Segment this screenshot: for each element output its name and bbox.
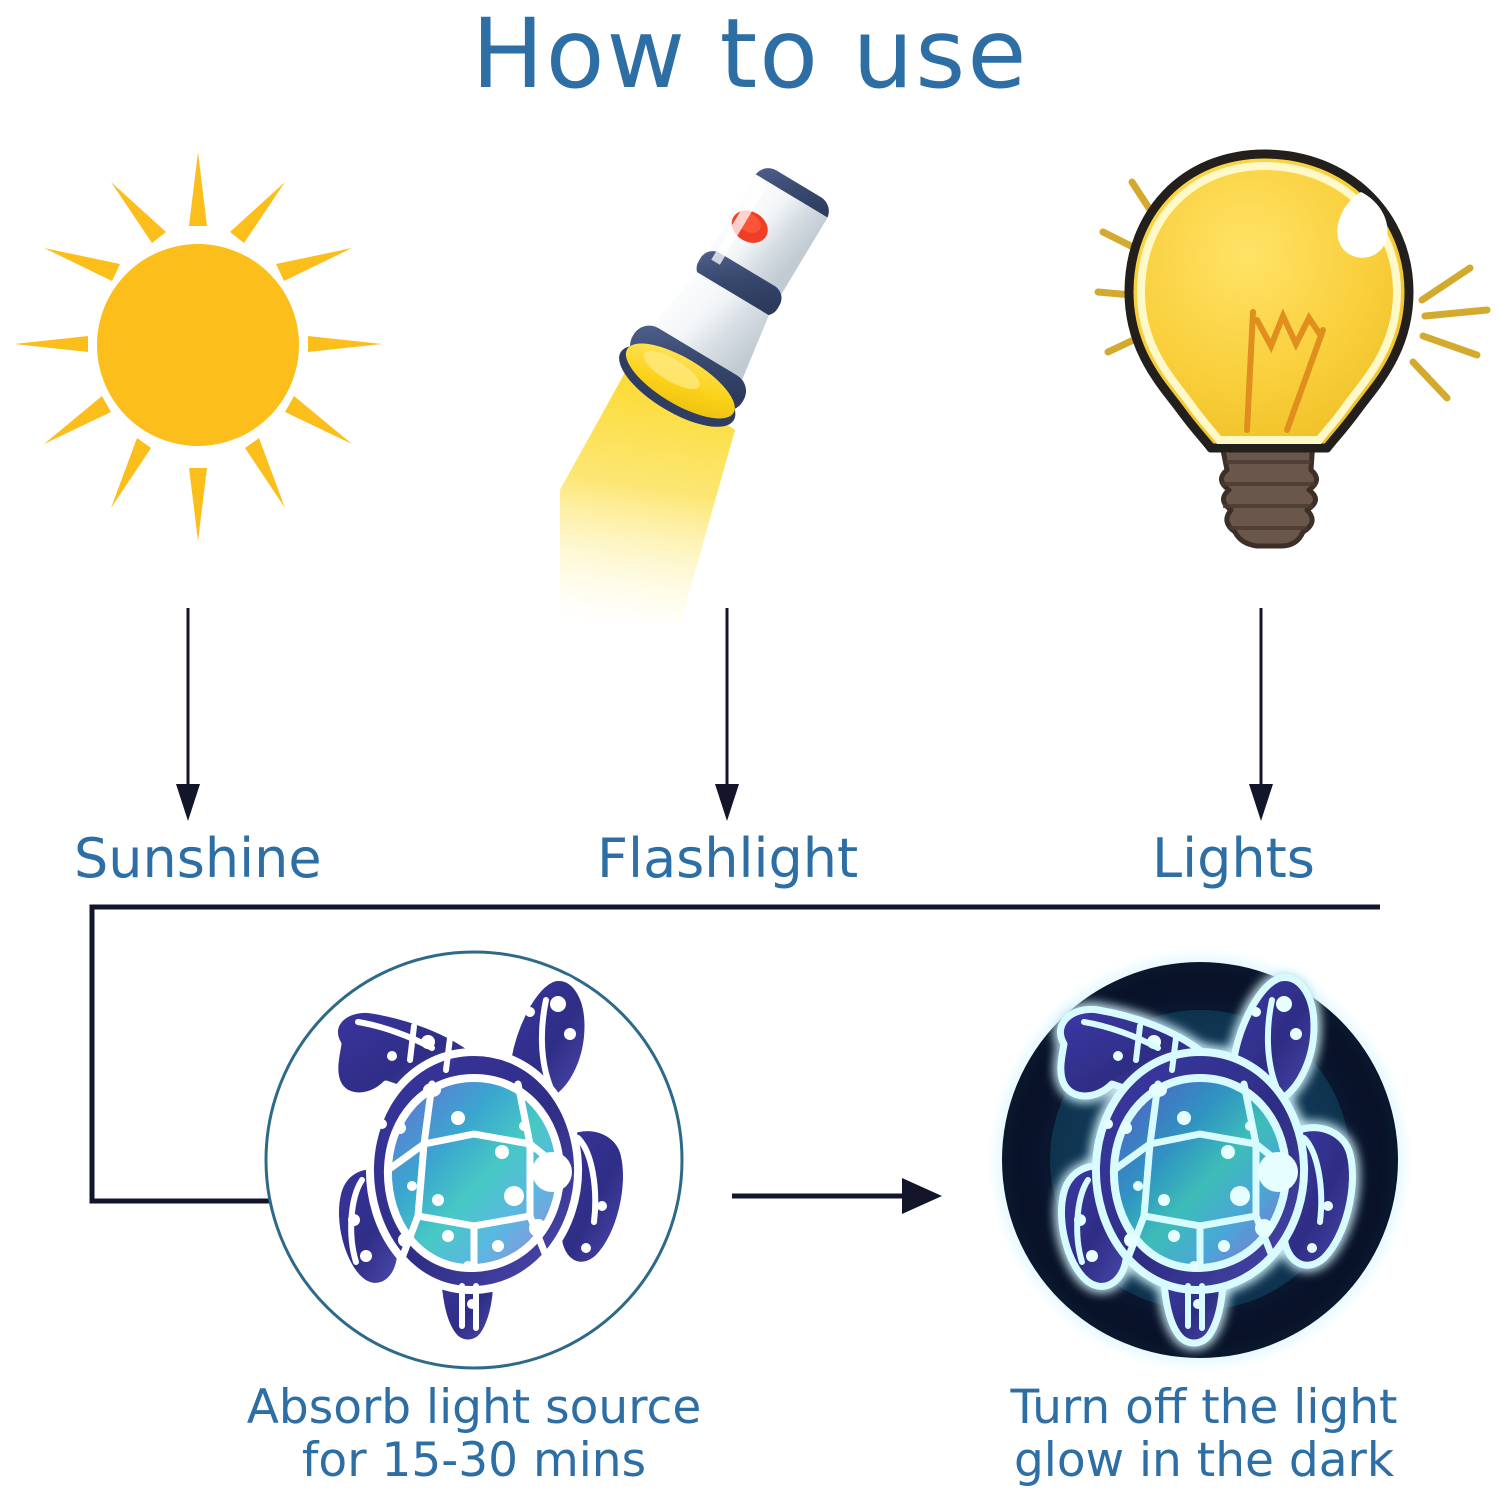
how-to-use-infographic: How to use [0,0,1500,1497]
lightbulb-icon [1075,140,1495,560]
arrow-absorb-to-glow [730,1168,945,1224]
caption-absorb-line1: Absorb light source [174,1382,774,1435]
turtle-sticker-glowing-icon [988,948,1412,1372]
source-label-lights: Lights [1152,832,1315,886]
caption-absorb-line2: for 15-30 mins [174,1435,774,1488]
caption-glow-line1: Turn off the light [914,1382,1494,1435]
flashlight-icon [560,130,940,630]
down-arrow-flashlight [712,608,742,823]
down-arrow-lights [1246,608,1276,823]
sun-icon [8,148,388,548]
page-title: How to use [0,4,1500,105]
caption-glow: Turn off the light glow in the dark [914,1382,1494,1487]
bulb-base [1221,440,1317,546]
caption-glow-line2: glow in the dark [914,1435,1494,1488]
turtle-sticker-lit-icon [262,948,686,1372]
source-label-flashlight: Flashlight [597,832,858,886]
bulb-rays-right [1413,268,1487,398]
down-arrow-sunshine [173,608,203,823]
source-label-sunshine: Sunshine [74,832,322,886]
caption-absorb: Absorb light source for 15-30 mins [174,1382,774,1487]
bulb-glass [1129,154,1409,448]
